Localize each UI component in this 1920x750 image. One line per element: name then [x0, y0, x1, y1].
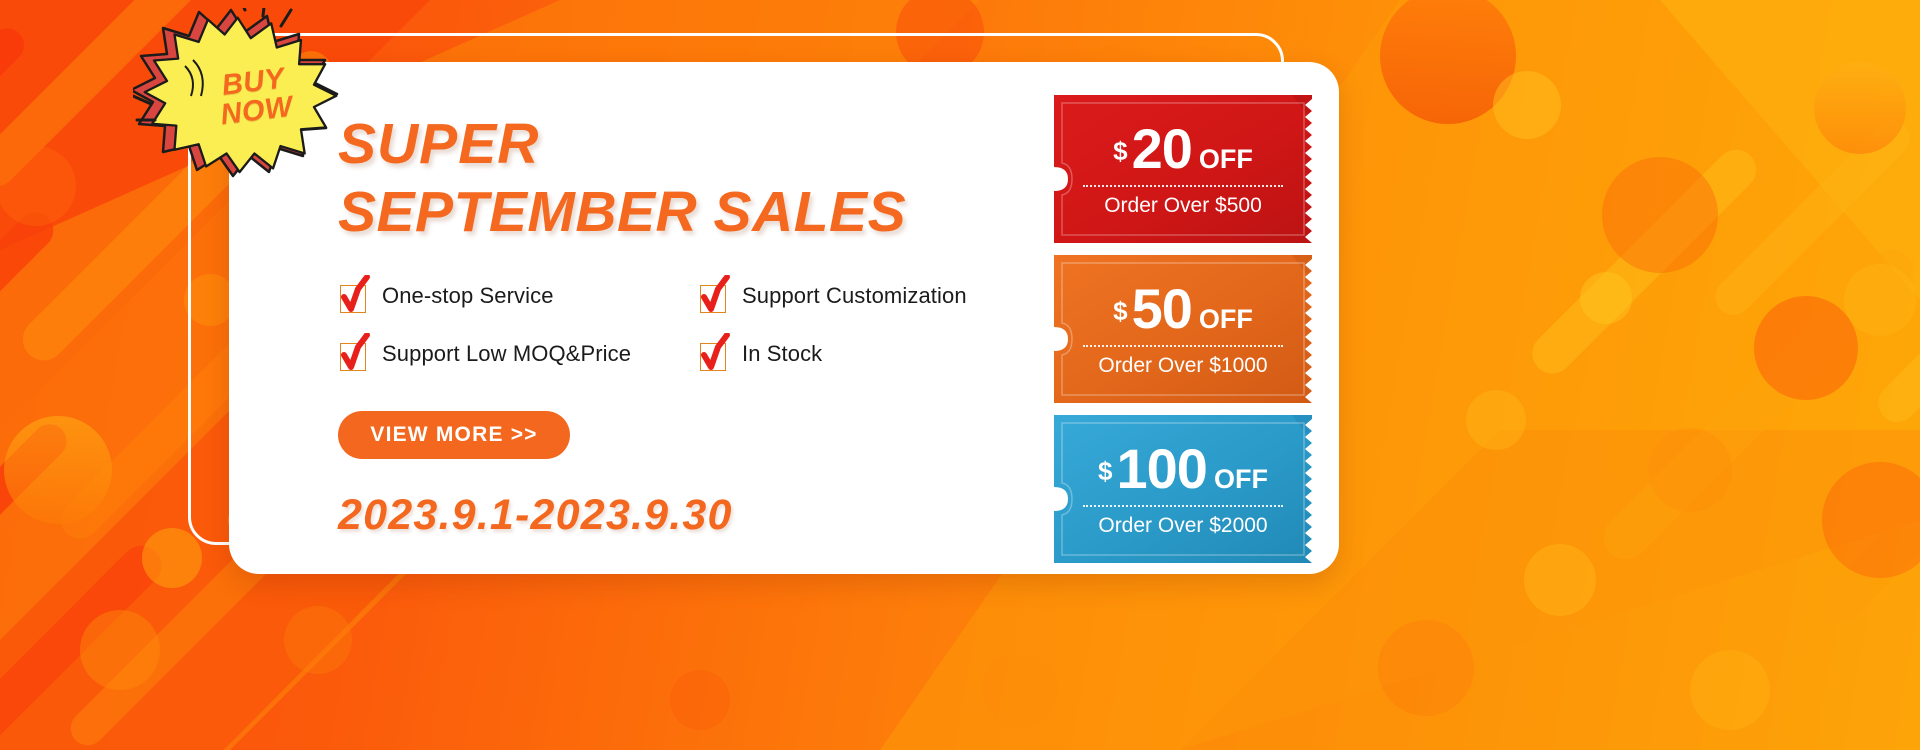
coupon-50[interactable]: $ 50 OFF Order Over $1000 — [1054, 255, 1312, 403]
feature-item: Support Low MOQ&Price — [338, 337, 698, 371]
coupon-20[interactable]: $ 20 OFF Order Over $500 — [1054, 95, 1312, 243]
feature-label: Support Customization — [742, 283, 967, 309]
coupon-currency: $ — [1098, 458, 1112, 484]
coupon-condition: Order Over $1000 — [1098, 354, 1267, 378]
promo-dates: 2023.9.1-2023.9.30 — [338, 491, 1038, 540]
headline-line-2: SEPTEMBER SALES — [338, 178, 1038, 246]
feature-label: One-stop Service — [382, 283, 554, 309]
promo-banner: BUY NOW SUPER SEPTEMBER SALES One-stop S… — [0, 0, 1920, 750]
headline-line-1: SUPER — [338, 110, 1038, 178]
coupon-condition: Order Over $500 — [1104, 194, 1262, 218]
feature-item: One-stop Service — [338, 279, 698, 313]
coupon-content: $ 100 OFF Order Over $2000 — [1054, 441, 1312, 538]
coupon-divider — [1083, 345, 1283, 347]
buy-now-badge[interactable]: BUY NOW — [133, 8, 345, 180]
starburst-badge-icon — [133, 8, 345, 180]
checkmark-icon — [698, 337, 728, 371]
coupon-currency: $ — [1113, 138, 1127, 164]
coupon-divider — [1083, 505, 1283, 507]
feature-list: One-stop Service Support Customization S… — [338, 279, 1038, 371]
coupon-content: $ 50 OFF Order Over $1000 — [1054, 281, 1312, 378]
coupon-amount-row: $ 100 OFF — [1098, 441, 1268, 497]
view-more-button[interactable]: VIEW MORE >> — [338, 411, 570, 459]
coupon-divider — [1083, 185, 1283, 187]
feature-label: Support Low MOQ&Price — [382, 341, 631, 367]
coupon-off-label: OFF — [1214, 466, 1268, 493]
checkmark-icon — [338, 337, 368, 371]
coupon-amount: 100 — [1117, 441, 1207, 497]
coupon-condition: Order Over $2000 — [1098, 514, 1267, 538]
feature-item: Support Customization — [698, 279, 1058, 313]
coupon-list: $ 20 OFF Order Over $500 — [1054, 95, 1312, 575]
coupon-off-label: OFF — [1199, 146, 1253, 173]
checkmark-icon — [338, 279, 368, 313]
coupon-amount: 50 — [1132, 281, 1192, 337]
feature-item: In Stock — [698, 337, 1058, 371]
coupon-amount: 20 — [1132, 121, 1192, 177]
coupon-content: $ 20 OFF Order Over $500 — [1054, 121, 1312, 218]
coupon-currency: $ — [1113, 298, 1127, 324]
promo-content: SUPER SEPTEMBER SALES One-stop Service S… — [338, 110, 1038, 540]
checkmark-icon — [698, 279, 728, 313]
coupon-off-label: OFF — [1199, 306, 1253, 333]
feature-label: In Stock — [742, 341, 822, 367]
coupon-amount-row: $ 20 OFF — [1113, 121, 1253, 177]
coupon-amount-row: $ 50 OFF — [1113, 281, 1253, 337]
coupon-100[interactable]: $ 100 OFF Order Over $2000 — [1054, 415, 1312, 563]
